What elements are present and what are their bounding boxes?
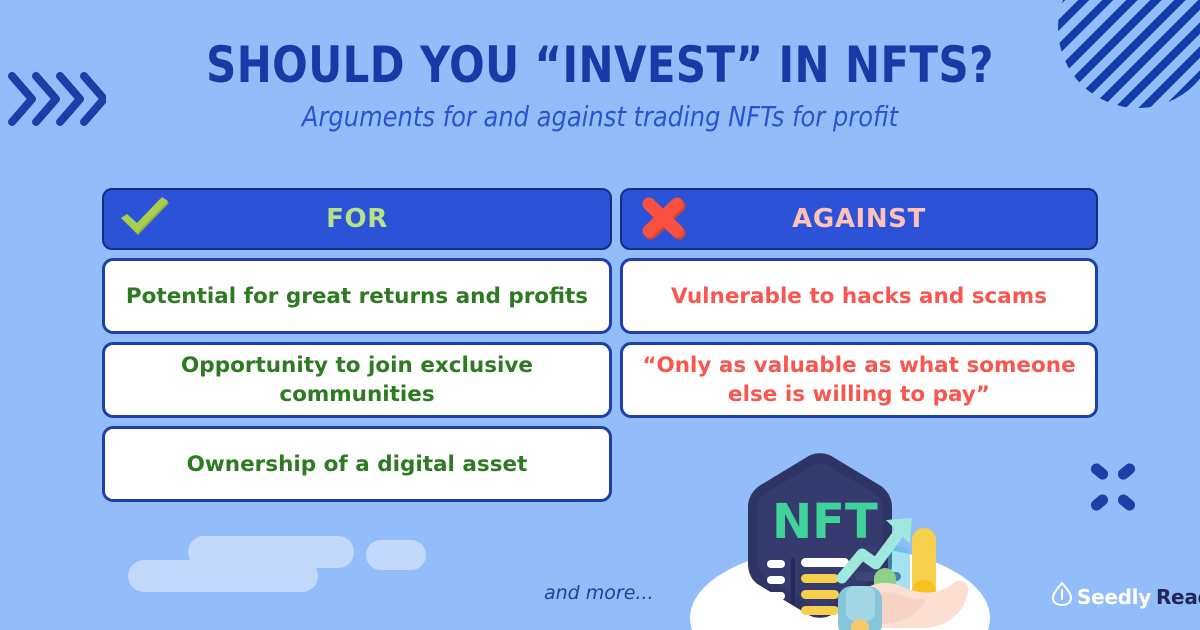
list-item: Opportunity to join exclusive communitie… [102, 342, 612, 418]
column-header-label-against: AGAINST [792, 204, 926, 234]
list-item-text: Opportunity to join exclusive communitie… [121, 351, 593, 409]
column-for: FOR Potential for great returns and prof… [102, 188, 612, 502]
list-item-text: Vulnerable to hacks and scams [671, 282, 1047, 311]
page-title: SHOULD YOU “INVEST” IN NFTS? [42, 36, 1158, 94]
list-item-text: “Only as valuable as what someone else i… [639, 351, 1079, 409]
seedly-droplet-icon [1052, 582, 1072, 611]
svg-text:NFT: NFT [772, 494, 878, 550]
column-header-against: AGAINST [620, 188, 1098, 250]
column-header-label-for: FOR [326, 204, 388, 234]
list-item-text: Ownership of a digital asset [187, 450, 528, 479]
nft-hexagon-illustration: NFT [660, 440, 1020, 630]
check-icon [118, 197, 174, 241]
and-more-label: and more... [544, 582, 654, 604]
column-header-for: FOR [102, 188, 612, 250]
page-subtitle: Arguments for and against trading NFTs f… [24, 100, 1176, 133]
cloud-bar-bottom [128, 560, 318, 592]
list-item: Potential for great returns and profits [102, 258, 612, 334]
list-item: Vulnerable to hacks and scams [620, 258, 1098, 334]
list-item: Ownership of a digital asset [102, 426, 612, 502]
list-item-text: Potential for great returns and profits [126, 282, 588, 311]
logo-text-seedly: Seedly [1077, 585, 1151, 609]
cross-icon [636, 197, 692, 241]
cloud-decoration [128, 536, 428, 600]
brand-logo: Seedly Reads [1052, 582, 1200, 611]
list-item: “Only as valuable as what someone else i… [620, 342, 1098, 418]
logo-text-reads: Reads [1156, 585, 1200, 609]
cloud-bar-side [366, 540, 426, 570]
infographic-canvas: SHOULD YOU “INVEST” IN NFTS? Arguments f… [0, 0, 1200, 630]
